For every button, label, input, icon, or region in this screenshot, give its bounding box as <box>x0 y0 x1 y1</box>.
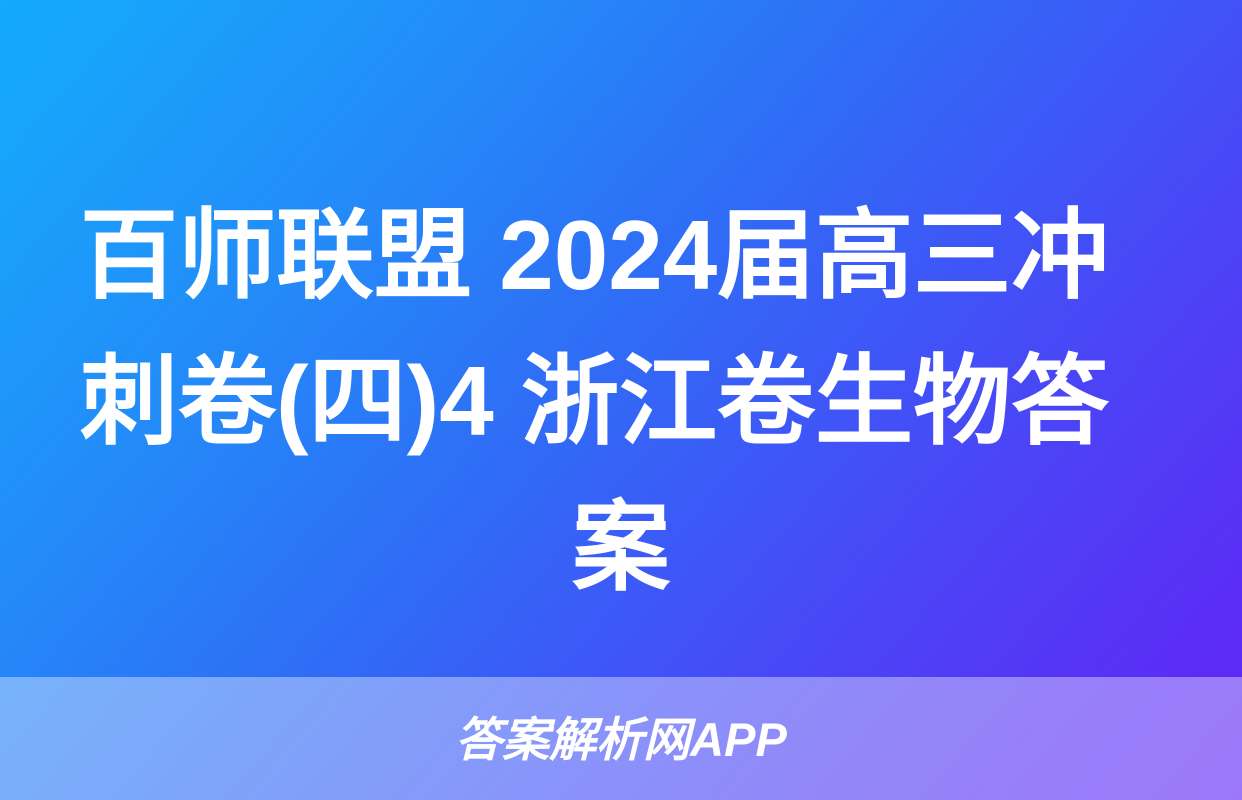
title-line-1: 百师联盟 2024届高三冲 <box>78 182 1164 328</box>
title-line-3: 案 <box>78 474 1164 620</box>
title-line-2: 刺卷(四)4 浙江卷生物答 <box>78 328 1164 474</box>
poster-canvas: 百师联盟 2024届高三冲 刺卷(四)4 浙江卷生物答 案 答案解析网APP <box>0 0 1242 800</box>
watermark-band: 答案解析网APP <box>0 677 1242 800</box>
page-title: 百师联盟 2024届高三冲 刺卷(四)4 浙江卷生物答 案 <box>78 182 1164 620</box>
watermark-label: 答案解析网APP <box>455 716 787 763</box>
